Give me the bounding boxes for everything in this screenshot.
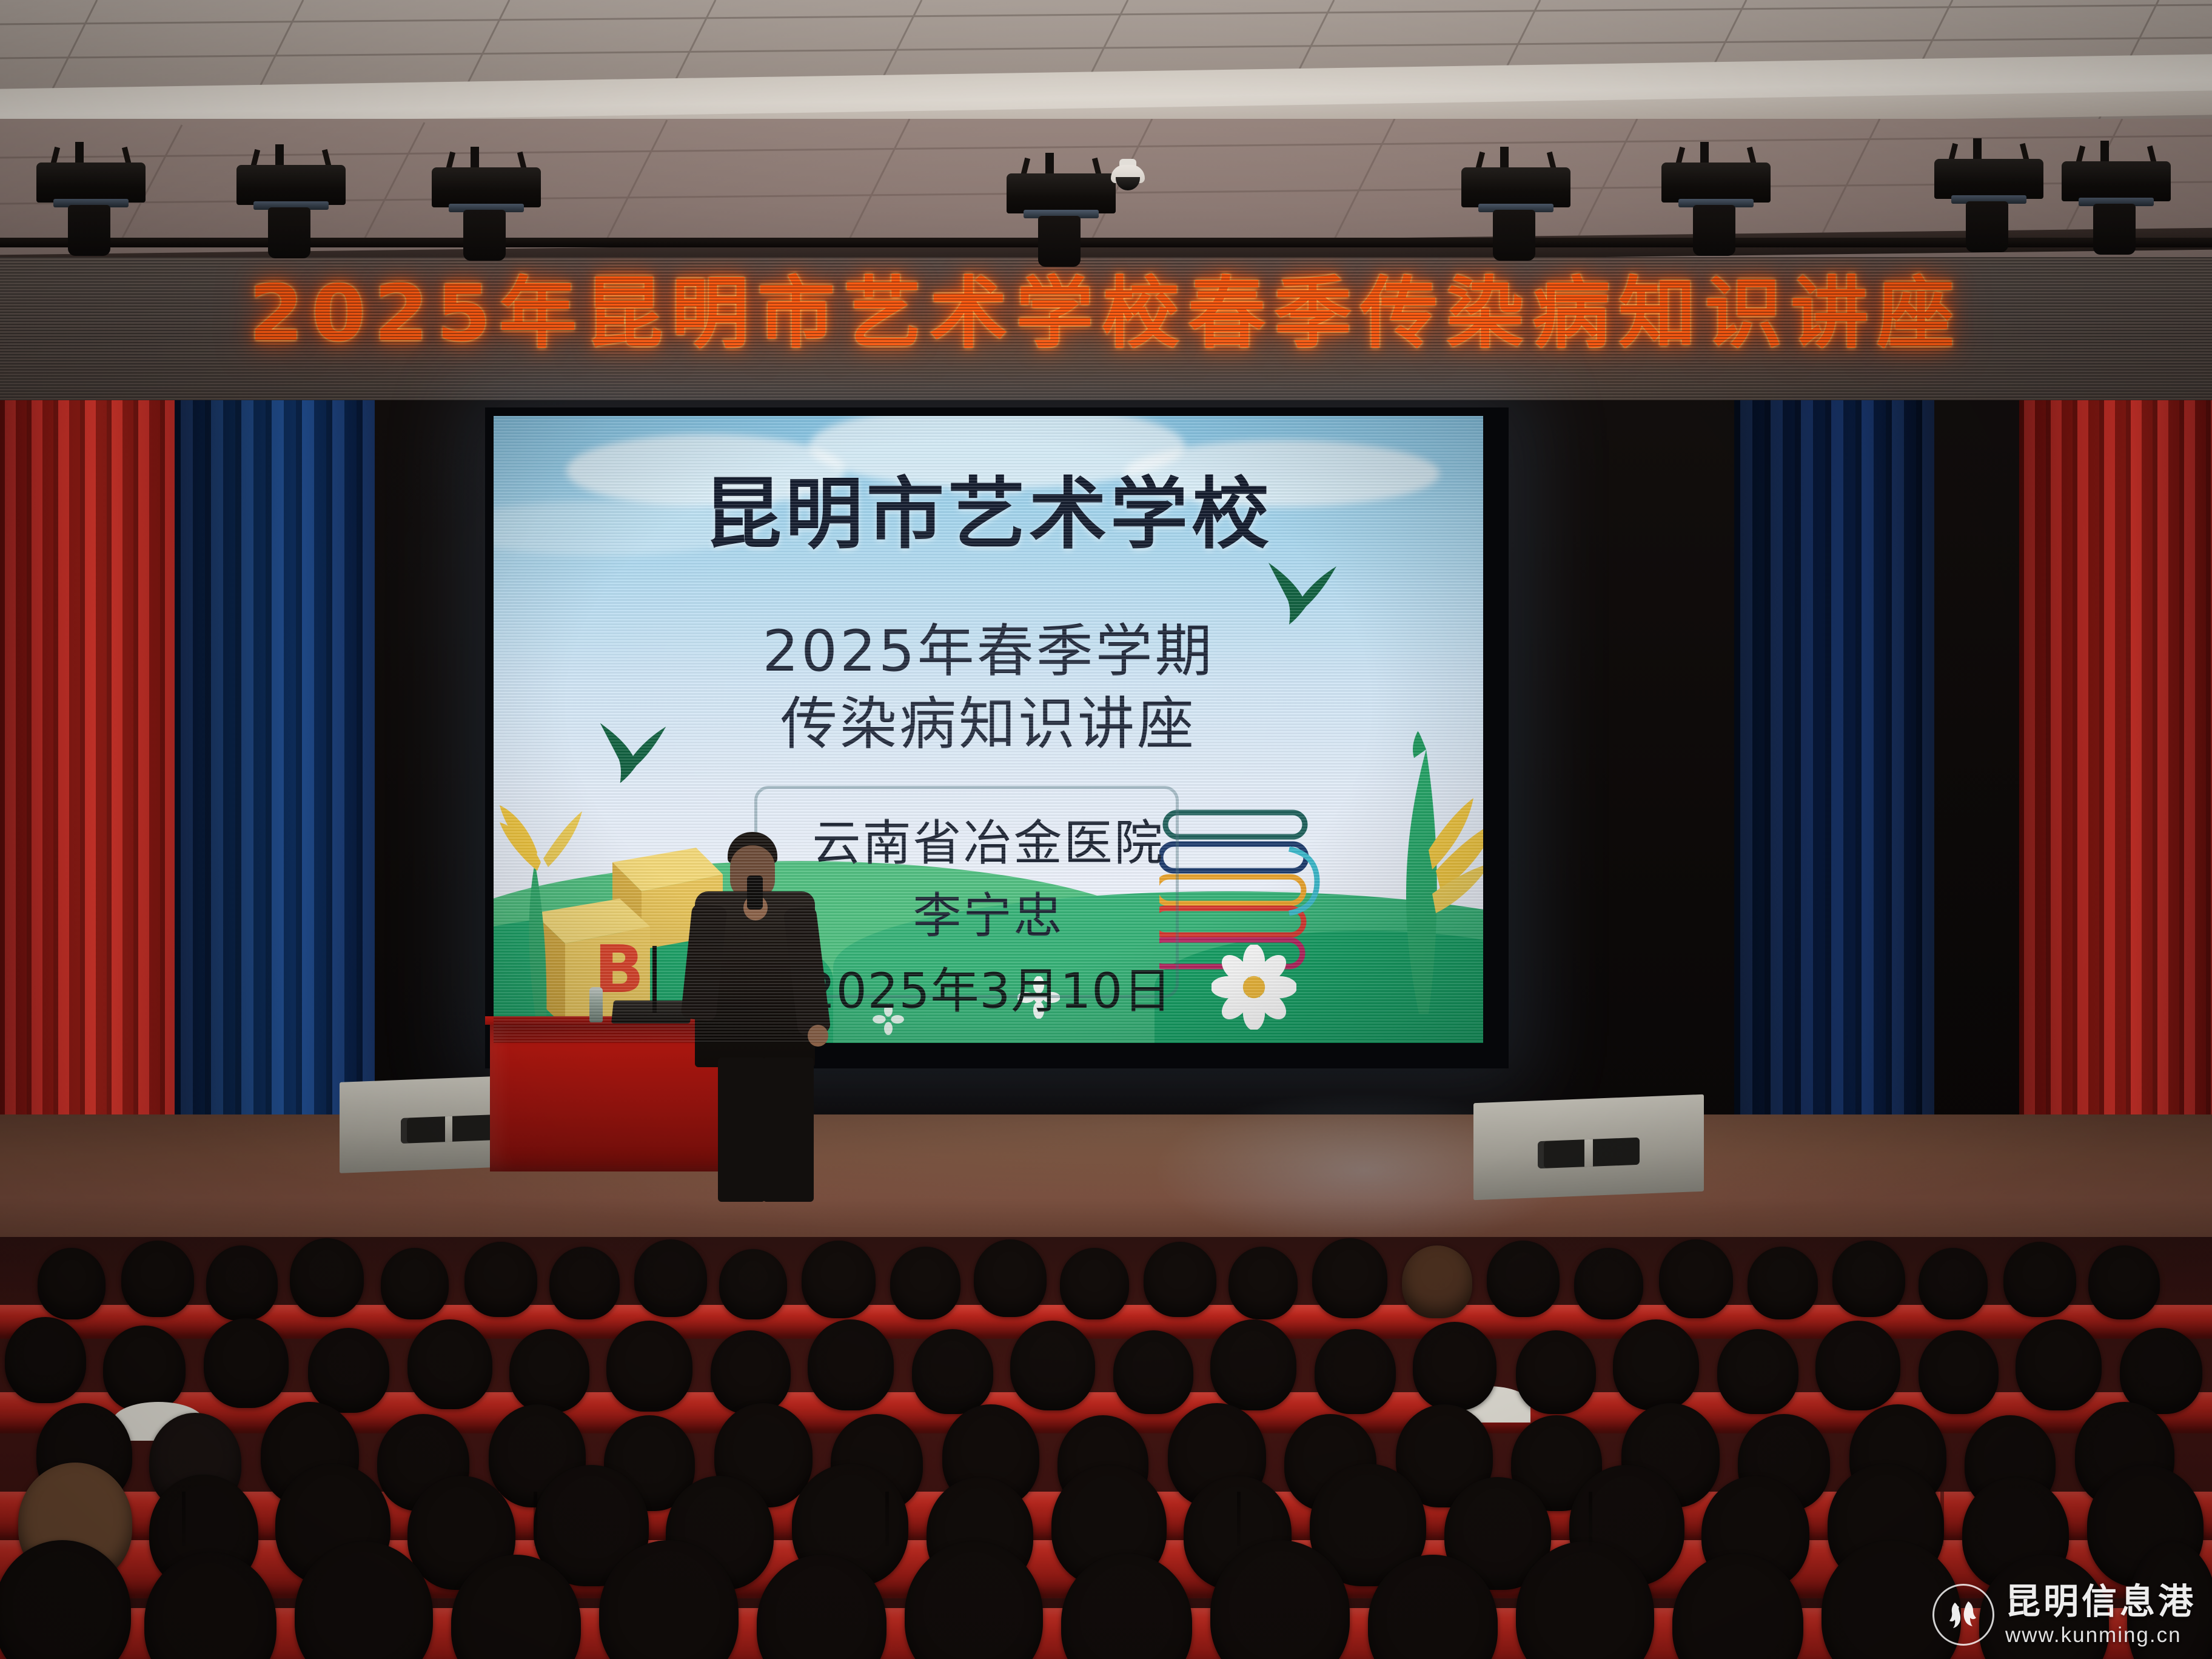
stage-light-1 <box>36 163 146 253</box>
audience-head <box>204 1318 289 1408</box>
audience-head <box>1919 1248 1988 1319</box>
audience-head <box>1717 1329 1798 1414</box>
audience-head <box>1413 1322 1496 1410</box>
watermark: 昆明信息港 www.kunming.cn <box>1932 1584 2196 1646</box>
audience-head <box>464 1242 537 1317</box>
slide-title: 昆明市艺术学校 <box>494 451 1483 563</box>
curtain-red-left <box>0 400 182 1164</box>
audience-head <box>1402 1245 1472 1318</box>
audience-head <box>1315 1329 1396 1414</box>
audience-head <box>509 1329 589 1413</box>
stage-light-4 <box>1007 173 1116 264</box>
stage-light-2 <box>236 165 346 256</box>
slide-subtitle-line2: 传染病知识讲座 <box>494 678 1483 760</box>
audience-head <box>381 1248 449 1319</box>
slide-organization: 云南省冶金医院 <box>494 804 1483 874</box>
watermark-site-name: 昆明信息港 <box>2005 1584 2196 1619</box>
audience-head <box>1613 1319 1699 1410</box>
curtain-blue-right <box>1734 400 1934 1164</box>
audience-head <box>974 1239 1047 1317</box>
audience-head <box>719 1249 787 1319</box>
audience-head <box>206 1245 278 1321</box>
kunming-horse-logo-icon <box>1932 1584 1994 1646</box>
stage-light-7 <box>1934 159 2043 250</box>
curtain-red-right <box>2019 400 2212 1164</box>
projection-screen: B <box>485 407 1509 1068</box>
audience-head <box>802 1241 876 1318</box>
audience-head <box>2016 1319 2102 1410</box>
stage-light-8 <box>2062 161 2171 252</box>
audience-head <box>38 1248 106 1319</box>
stage-light-6 <box>1661 163 1771 253</box>
audience-head <box>1144 1242 1216 1317</box>
audience-head <box>1516 1330 1596 1414</box>
audience-head <box>912 1329 993 1414</box>
audience-head <box>1312 1238 1387 1318</box>
audience-head <box>549 1247 620 1319</box>
presenter-figure <box>672 832 842 1196</box>
led-banner-wall: 2025年昆明市艺术学校春季传染病知识讲座 <box>0 257 2212 409</box>
audience-head <box>1919 1330 1999 1414</box>
twin-horse-glyph-icon <box>1942 1593 1985 1637</box>
stage-light-3 <box>432 167 541 258</box>
audience-head <box>1210 1319 1296 1410</box>
audience-head <box>2120 1328 2202 1414</box>
audience-head <box>1487 1241 1560 1317</box>
audience-head <box>634 1239 707 1317</box>
dome-security-camera-icon <box>1110 159 1146 193</box>
water-bottle <box>589 987 603 1022</box>
audience-head <box>2088 1245 2160 1319</box>
watermark-url: www.kunming.cn <box>2005 1624 2196 1646</box>
seat-divider <box>1237 1492 1241 1546</box>
curtain-blue-left <box>175 400 375 1164</box>
audience-head <box>1748 1247 1818 1319</box>
led-scanline-overlay <box>0 257 2212 409</box>
audience-head <box>5 1317 86 1403</box>
seat-divider <box>182 1492 186 1546</box>
audience-head <box>1228 1247 1298 1319</box>
audience-head <box>121 1241 194 1317</box>
audience-head <box>407 1319 492 1409</box>
seat-divider <box>534 1492 537 1546</box>
audience-head <box>1574 1248 1643 1319</box>
stage-light-5 <box>1461 167 1570 258</box>
watermark-text: 昆明信息港 www.kunming.cn <box>2005 1584 2196 1646</box>
audience-head <box>1060 1248 1129 1319</box>
presentation-slide: B <box>494 416 1483 1043</box>
audience-head <box>890 1247 960 1319</box>
audience-head <box>1659 1239 1733 1318</box>
stage-floor <box>0 1114 2212 1254</box>
audience-head <box>808 1319 894 1410</box>
audience-head <box>290 1238 364 1317</box>
audience-head <box>1010 1321 1095 1410</box>
seat-divider <box>1589 1492 1592 1546</box>
microphone-stand <box>652 946 657 1013</box>
led-banner-text: 2025年昆明市艺术学校春季传染病知识讲座 <box>0 275 2212 353</box>
audience-head <box>1113 1330 1193 1414</box>
audience-area <box>0 1237 2212 1659</box>
audience-head <box>1815 1321 1900 1410</box>
photo-scene: 2025年昆明市艺术学校春季传染病知识讲座 <box>0 0 2212 1659</box>
audience-head <box>606 1321 692 1412</box>
audience-head <box>711 1330 791 1414</box>
seat-divider <box>885 1492 889 1546</box>
audience-head <box>1832 1241 1905 1317</box>
seat-divider <box>1940 1492 1944 1546</box>
audience-head <box>308 1328 389 1413</box>
slide-presenter-name: 李宁忠 <box>494 877 1483 947</box>
slide-subtitle-line1: 2025年春季学期 <box>494 605 1483 688</box>
audience-head <box>2003 1242 2076 1317</box>
stage-monitor-speaker-right <box>1473 1094 1704 1201</box>
audience-head <box>103 1326 186 1412</box>
